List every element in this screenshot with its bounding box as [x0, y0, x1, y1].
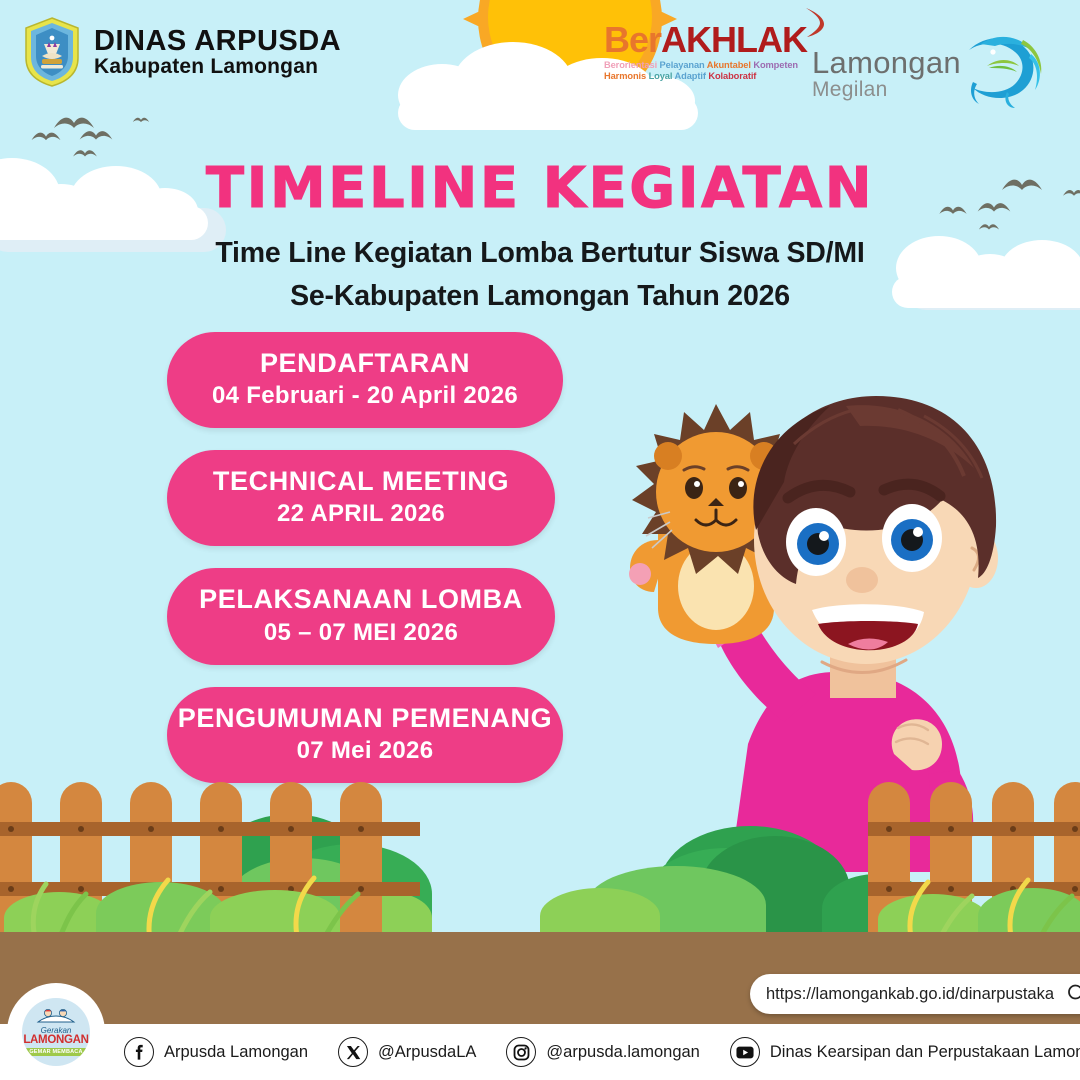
logo-dinas-arpusda: DINAS ARPUSDA Kabupaten Lamongan — [22, 16, 341, 88]
timeline-item-date: 05 – 07 MEI 2026 — [177, 619, 545, 647]
instagram-icon[interactable] — [506, 1037, 536, 1067]
social-facebook[interactable]: Arpusda Lamongan — [124, 1037, 308, 1067]
bird-icon — [78, 128, 114, 143]
bird-icon — [30, 130, 62, 143]
timeline-item-pengumuman-pemenang[interactable]: PENGUMUMAN PEMENANG 07 Mei 2026 — [167, 687, 563, 783]
arpusda-subtitle: Kabupaten Lamongan — [94, 56, 341, 77]
timeline-item-technical-meeting[interactable]: TECHNICAL MEETING 22 APRIL 2026 — [167, 450, 555, 546]
berakhlak-tagline-1: Berorientasi Pelayanan Akuntabel Kompete… — [604, 60, 814, 71]
timeline-item-date: 22 APRIL 2026 — [177, 500, 545, 528]
social-label: @ArpusdaLA — [378, 1043, 476, 1062]
logo-berakhlak: BerAKHLAK Berorientasi Pelayanan Akuntab… — [604, 22, 814, 83]
search-icon[interactable] — [1060, 977, 1080, 1011]
lamongan-title: Lamongan — [812, 47, 961, 78]
badge-sub-text: GEMAR MEMBACA — [25, 1048, 86, 1056]
social-instagram[interactable]: @arpusda.lamongan — [506, 1037, 699, 1067]
berakhlak-tagline-2: Harmonis Loyal Adaptif Kolaboratif — [604, 71, 814, 82]
social-label: Dinas Kearsipan dan Perpustakaan Lamonga… — [770, 1043, 1080, 1062]
timeline-list: PENDAFTARAN 04 Februari - 20 April 2026 … — [167, 332, 567, 805]
timeline-item-name: PENGUMUMAN PEMENANG — [177, 703, 553, 733]
social-x-twitter[interactable]: @ArpusdaLA — [338, 1037, 476, 1067]
social-youtube[interactable]: Dinas Kearsipan dan Perpustakaan Lamonga… — [730, 1037, 1080, 1067]
logo-lamongan-megilan: Lamongan Megilan — [812, 30, 1047, 116]
timeline-item-pendaftaran[interactable]: PENDAFTARAN 04 Februari - 20 April 2026 — [167, 332, 563, 428]
arpusda-title: DINAS ARPUSDA — [94, 27, 341, 57]
berakhlak-main: AKHLAK — [661, 19, 807, 60]
website-url-text: https://lamongankab.go.id/dinarpustaka — [766, 985, 1054, 1004]
footer-bar: Arpusda Lamongan @ArpusdaLA — [0, 1024, 1080, 1080]
berakhlak-prefix: Ber — [604, 19, 661, 60]
lamongan-subtitle: Megilan — [812, 79, 961, 100]
social-links: Arpusda Lamongan @ArpusdaLA — [124, 1037, 1080, 1067]
lamongan-regency-crest-icon — [22, 16, 82, 88]
timeline-item-name: TECHNICAL MEETING — [177, 466, 545, 496]
badge-main-text: LAMONGAN — [23, 1035, 88, 1047]
gerakan-lamongan-badge: Gerakan LAMONGAN GEMAR MEMBACA — [14, 990, 98, 1074]
timeline-item-name: PELAKSANAAN LOMBA — [177, 584, 545, 614]
page-subtitle: Time Line Kegiatan Lomba Bertutur Siswa … — [0, 232, 1080, 319]
timeline-item-date: 04 Februari - 20 April 2026 — [177, 382, 553, 410]
youtube-icon[interactable] — [730, 1037, 760, 1067]
social-label: @arpusda.lamongan — [546, 1043, 699, 1062]
timeline-item-date: 07 Mei 2026 — [177, 737, 553, 765]
timeline-item-pelaksanaan-lomba[interactable]: PELAKSANAAN LOMBA 05 – 07 MEI 2026 — [167, 568, 555, 664]
subtitle-line-1: Time Line Kegiatan Lomba Bertutur Siswa … — [0, 232, 1080, 275]
bird-icon — [978, 222, 1000, 232]
children-reading-icon — [36, 1008, 76, 1026]
x-twitter-icon[interactable] — [338, 1037, 368, 1067]
timeline-item-name: PENDAFTARAN — [177, 348, 553, 378]
social-label: Arpusda Lamongan — [164, 1043, 308, 1062]
page-title: TIMELINE KEGIATAN — [0, 156, 1080, 221]
website-url-bar[interactable]: https://lamongankab.go.id/dinarpustaka — [750, 974, 1080, 1014]
bird-icon — [132, 116, 150, 124]
lamongan-fish-wave-icon — [951, 20, 1047, 116]
facebook-icon[interactable] — [124, 1037, 154, 1067]
poster-canvas: DINAS ARPUSDA Kabupaten Lamongan BerAKHL… — [0, 0, 1080, 1080]
subtitle-line-2: Se-Kabupaten Lamongan Tahun 2026 — [0, 275, 1080, 318]
